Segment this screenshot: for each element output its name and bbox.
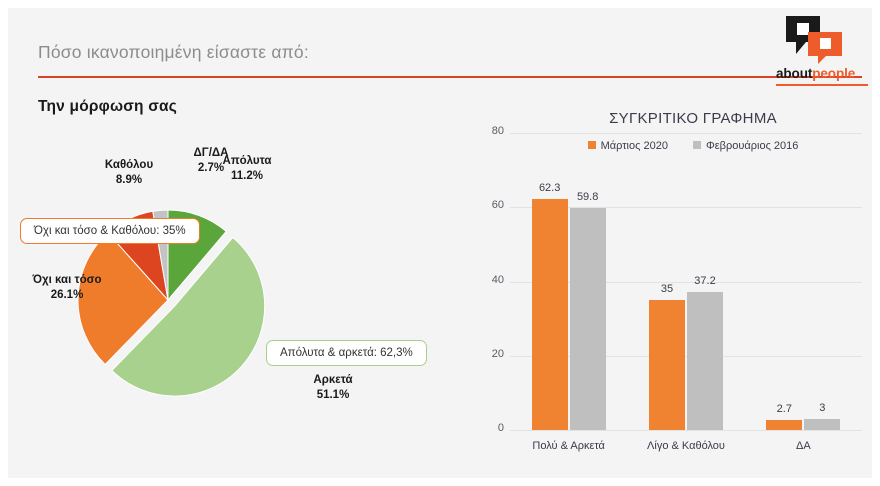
pie-label-dg-da-name: ΔΓ/ΔΑ — [166, 146, 256, 161]
slide-background: Πόσο ικανοποιημένη είσαστε από: Την μόρφ… — [8, 8, 872, 478]
logo-word-people: people — [812, 66, 855, 81]
y-axis-tick-label: 20 — [478, 348, 504, 360]
bar-chart-plot-area: 02040608062.359.8Πολύ & Αρκετά3537.2Λίγο… — [478, 104, 872, 478]
x-axis-category-label: ΔΑ — [733, 440, 872, 452]
pie-label-dg-da-pct: 2.7% — [166, 161, 256, 176]
pie-label-oxi-kai-toso-pct: 26.1% — [8, 288, 132, 303]
slide-canvas: Πόσο ικανοποιημένη είσαστε από: Την μόρφ… — [0, 0, 880, 486]
pie-label-arketa: Αρκετά 51.1% — [278, 373, 388, 402]
header-divider — [38, 76, 862, 78]
bar — [570, 208, 606, 430]
bar — [532, 199, 568, 430]
y-axis-tick-label: 60 — [478, 199, 504, 211]
pie-label-oxi-kai-toso: Όχι και τόσο 26.1% — [8, 273, 132, 302]
bar-value-label: 59.8 — [560, 191, 616, 203]
callout-negative: Όχι και τόσο & Καθόλου: 35% — [20, 218, 200, 244]
logo-word-about: about — [776, 66, 812, 81]
gridline — [510, 133, 862, 134]
gridline — [510, 430, 862, 431]
pie-chart-panel: Απόλυτα 11.2% Αρκετά 51.1% Όχι και τόσο … — [8, 118, 478, 478]
y-axis-tick-label: 40 — [478, 274, 504, 286]
logo-wordmark: aboutpeople — [776, 66, 868, 81]
y-axis-tick-label: 0 — [478, 422, 504, 434]
bar — [687, 292, 723, 430]
pie-label-arketa-pct: 51.1% — [278, 388, 388, 403]
y-axis-tick-label: 80 — [478, 125, 504, 137]
logo-underline — [776, 84, 868, 86]
pie-label-dg-da: ΔΓ/ΔΑ 2.7% — [166, 146, 256, 175]
bar — [804, 419, 840, 430]
bar — [649, 300, 685, 430]
aboutpeople-logo: aboutpeople — [776, 14, 868, 86]
page-title: Πόσο ικανοποιημένη είσαστε από: — [38, 42, 309, 63]
bar — [766, 420, 802, 430]
callout-positive: Απόλυτα & αρκετά: 62,3% — [266, 340, 427, 366]
pie-label-oxi-kai-toso-name: Όχι και τόσο — [8, 273, 132, 288]
bar-chart-panel: ΣΥΓΚΡΙΤΙΚΟ ΓΡΑΦΗΜΑ Μάρτιος 2020 Φεβρουάρ… — [478, 104, 872, 478]
speech-bubbles-icon — [784, 14, 844, 64]
bar-value-label: 37.2 — [677, 275, 733, 287]
pie-label-arketa-name: Αρκετά — [278, 373, 388, 388]
subject-heading: Την μόρφωση σας — [38, 98, 177, 116]
bar-value-label: 3 — [794, 402, 850, 414]
